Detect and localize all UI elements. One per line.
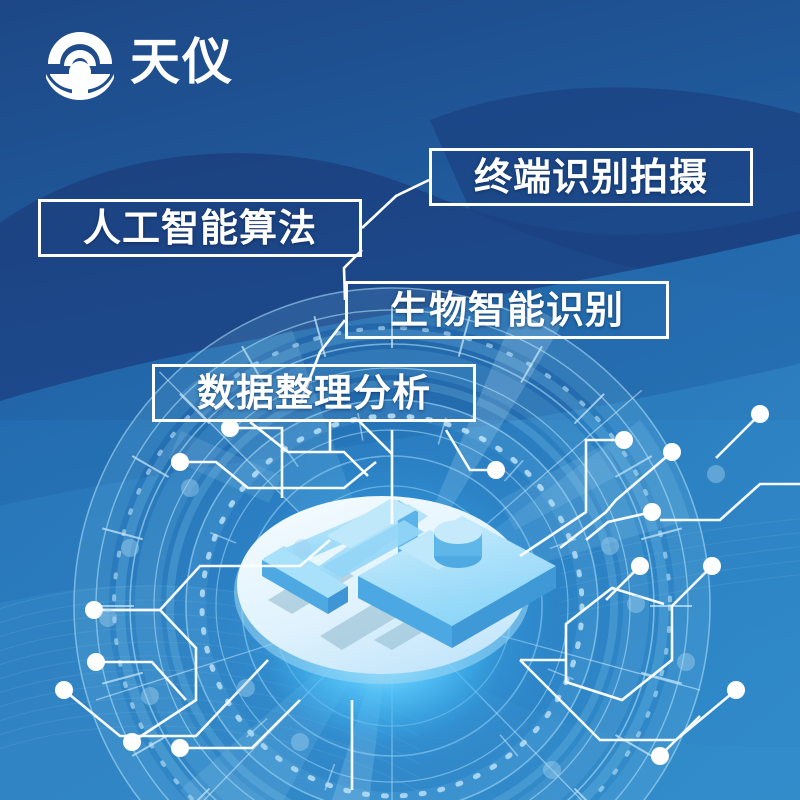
arch-wings-logo-icon [44,24,116,100]
cylinder-node [434,520,482,568]
callout-label: 生物智能识别 [390,291,624,329]
callout-label: 人工智能算法 [83,209,317,247]
brand-name: 天仪 [130,37,234,87]
callout-label: 数据整理分析 [197,374,431,412]
callout-bio-recognition[interactable]: 生物智能识别 [345,281,669,339]
callout-ai-algorithm[interactable]: 人工智能算法 [38,199,362,257]
brand-logo[interactable]: 天仪 [44,24,234,100]
ai-technology-poster: 天仪 终端识别拍摄 人工智能算法 生物智能识别 数据整理分析 [0,0,800,800]
callout-data-analysis[interactable]: 数据整理分析 [152,364,476,422]
callout-terminal-capture[interactable]: 终端识别拍摄 [429,148,753,206]
callout-label: 终端识别拍摄 [474,158,708,196]
